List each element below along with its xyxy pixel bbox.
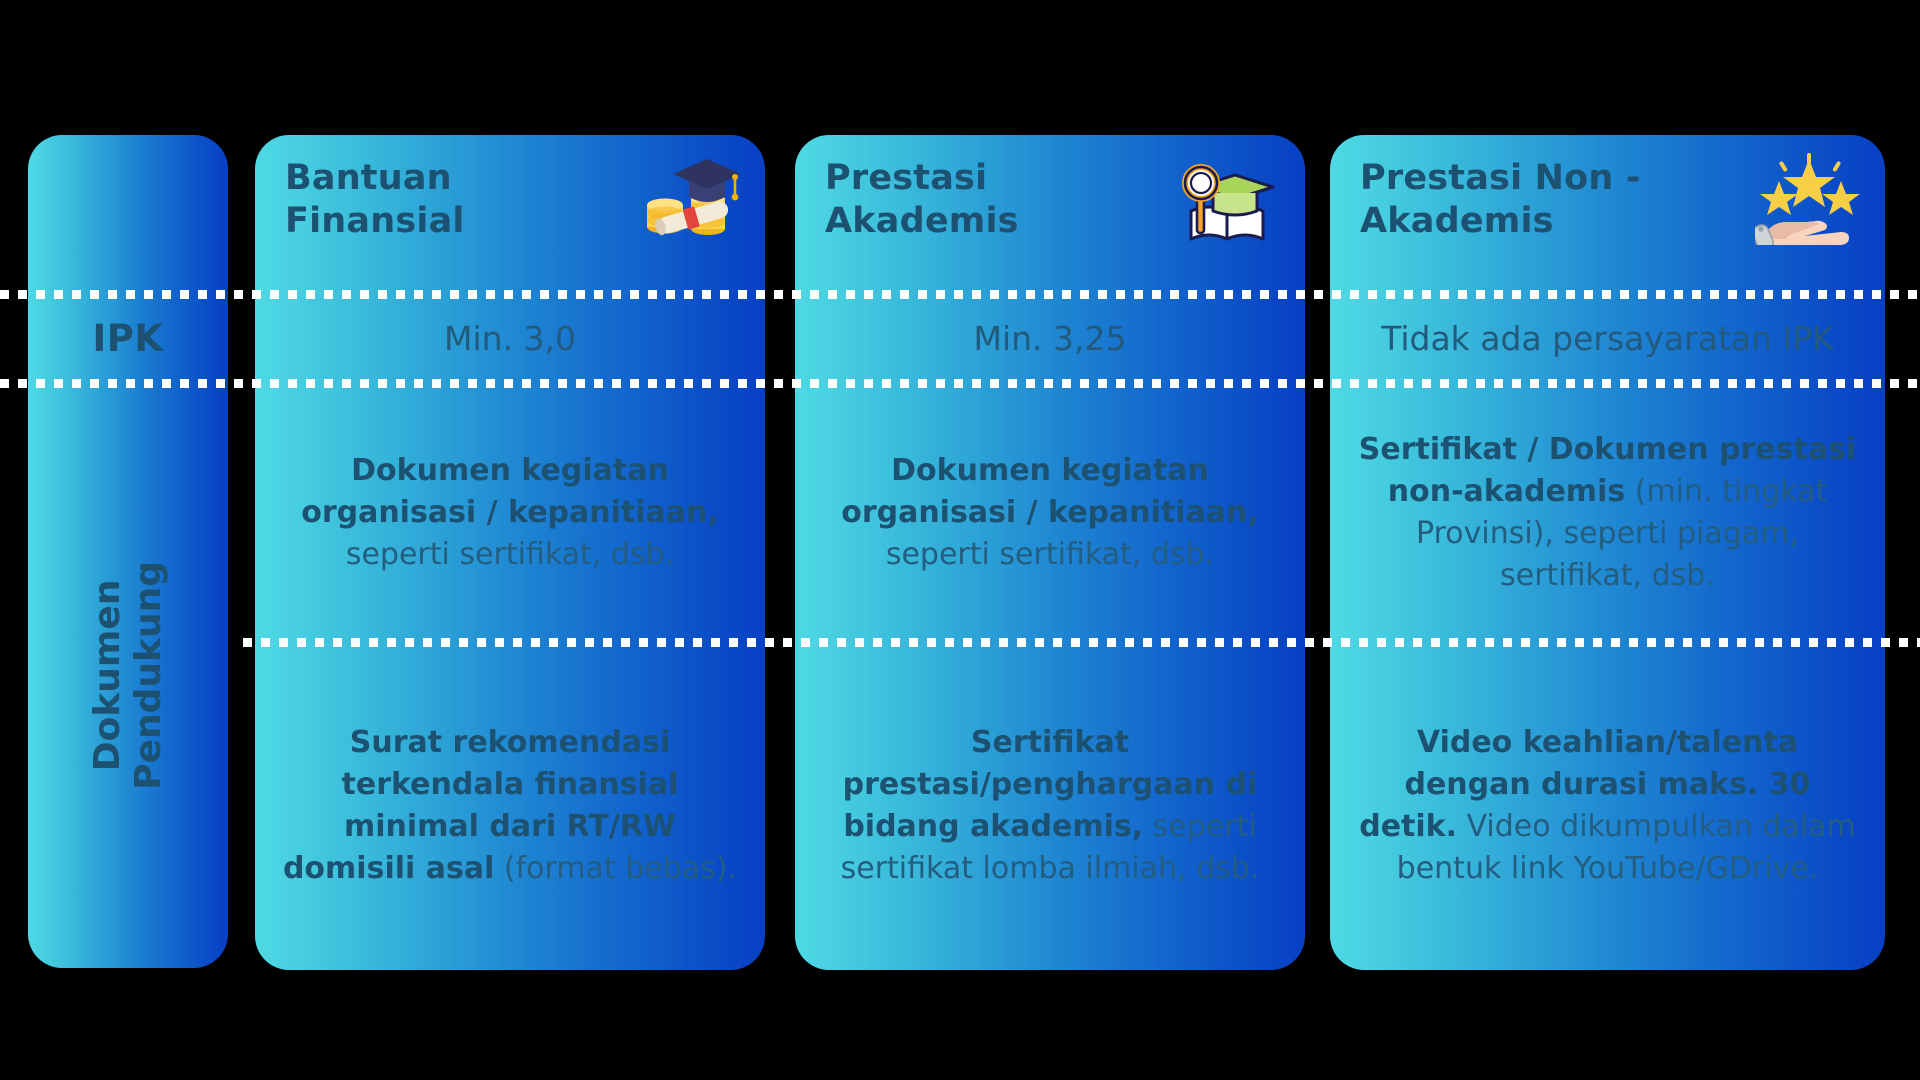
row-label-card: IPK Dokumen Pendukung: [28, 135, 228, 968]
doc-a-bold: Dokumen kegiatan organisasi / kepanitiaa…: [841, 453, 1259, 530]
column-card-prestasi-non-akademis[interactable]: Prestasi Non - Akademis: [1330, 135, 1885, 970]
doc-b-rest: Video dikumpulkan dalam bentuk link YouT…: [1397, 809, 1856, 886]
row-divider-docs: [243, 638, 1920, 647]
ipk-value: Tidak ada persayaratan IPK: [1330, 294, 1885, 383]
doc-requirement-b: Video keahlian/talenta dengan durasi mak…: [1330, 642, 1885, 970]
ipk-value: Min. 3,25: [795, 294, 1305, 383]
row-label-supporting-docs: Dokumen Pendukung: [28, 383, 228, 968]
card-title-line2: Akademis: [825, 200, 1155, 243]
doc-requirement-b: Sertifikat prestasi/penghargaan di bidan…: [795, 642, 1305, 970]
card-header: Prestasi Akademis: [795, 135, 1305, 294]
hand-stars-icon: [1755, 153, 1863, 245]
ipk-value-text: Min. 3,25: [973, 319, 1126, 358]
magnifier-book-graduation-icon: [1175, 153, 1283, 245]
ipk-value-text: Min. 3,0: [444, 319, 576, 358]
card-header: Bantuan Finansial: [255, 135, 765, 294]
doc-a-rest: seperti sertifikat, dsb.: [886, 537, 1214, 572]
doc-requirement-a: Sertifikat / Dokumen prestasi non-akadem…: [1330, 383, 1885, 642]
row-label-docs-line2: Pendukung: [128, 561, 169, 790]
card-title-line1: Bantuan: [285, 157, 615, 200]
row-label-docs-line1: Dokumen: [87, 561, 128, 790]
graduation-cap-coins-diploma-icon: [635, 153, 743, 245]
doc-requirement-a: Dokumen kegiatan organisasi / kepanitiaa…: [255, 383, 765, 642]
card-title-line1: Prestasi: [825, 157, 1155, 200]
card-title: Prestasi Non - Akademis: [1360, 157, 1710, 242]
doc-a-rest: seperti sertifikat, dsb.: [346, 537, 674, 572]
comparison-table: IPK Dokumen Pendukung Bantuan Finansial: [0, 0, 1920, 1080]
doc-b-rest: (format bebas).: [494, 851, 737, 886]
card-title: Prestasi Akademis: [825, 157, 1155, 242]
card-title-line1: Prestasi Non -: [1360, 157, 1710, 200]
row-divider-ipk: [0, 379, 1920, 388]
ipk-value: Min. 3,0: [255, 294, 765, 383]
row-label-ipk: IPK: [28, 294, 228, 383]
card-title-line2: Akademis: [1360, 200, 1710, 243]
row-divider-top: [0, 290, 1920, 299]
ipk-value-text: Tidak ada persayaratan IPK: [1381, 319, 1834, 358]
row-label-ipk-text: IPK: [92, 317, 163, 360]
doc-a-bold: Dokumen kegiatan organisasi / kepanitiaa…: [301, 453, 719, 530]
card-title: Bantuan Finansial: [285, 157, 615, 242]
card-header: Prestasi Non - Akademis: [1330, 135, 1885, 294]
doc-requirement-b: Surat rekomendasi terkendala finansial m…: [255, 642, 765, 970]
card-title-line2: Finansial: [285, 200, 615, 243]
doc-requirement-a: Dokumen kegiatan organisasi / kepanitiaa…: [795, 383, 1305, 642]
column-card-bantuan-finansial[interactable]: Bantuan Finansial: [255, 135, 765, 970]
column-card-prestasi-akademis[interactable]: Prestasi Akademis: [795, 135, 1305, 970]
